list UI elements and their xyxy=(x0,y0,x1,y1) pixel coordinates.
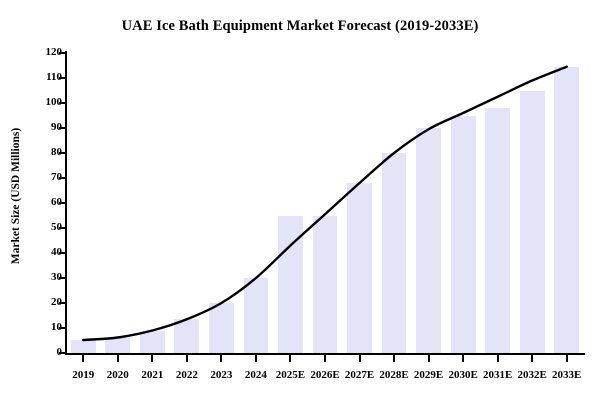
chart-title: UAE Ice Bath Equipment Market Forecast (… xyxy=(0,18,600,35)
x-axis-tick-mark xyxy=(462,355,464,362)
y-axis-title: Market Size (USD Millions) xyxy=(10,106,22,286)
x-axis-tick-mark xyxy=(566,355,568,362)
line-series xyxy=(66,53,584,353)
y-axis-tick-label: 70 xyxy=(36,171,62,183)
y-axis-tick-label: 100 xyxy=(36,96,62,108)
plot-area xyxy=(66,53,584,353)
y-axis-tick-label: 0 xyxy=(36,346,62,358)
y-axis-tick-label: 60 xyxy=(36,196,62,208)
x-axis-tick-mark xyxy=(359,355,361,362)
x-axis-tick-mark xyxy=(324,355,326,362)
chart-container: UAE Ice Bath Equipment Market Forecast (… xyxy=(0,0,600,401)
x-axis-tick-mark xyxy=(117,355,119,362)
y-axis-tick-label: 120 xyxy=(36,46,62,58)
trend-line-path xyxy=(83,67,566,340)
y-axis-tick-label: 90 xyxy=(36,121,62,133)
y-axis-tick-label: 30 xyxy=(36,271,62,283)
y-axis-tick-label: 110 xyxy=(36,71,62,83)
x-axis-tick-mark xyxy=(428,355,430,362)
y-axis-tick-label: 40 xyxy=(36,246,62,258)
x-axis-tick-mark xyxy=(82,355,84,362)
x-axis-tick-mark xyxy=(220,355,222,362)
x-axis-tick-mark xyxy=(151,355,153,362)
x-axis-tick-mark xyxy=(186,355,188,362)
x-axis-tick-mark xyxy=(393,355,395,362)
x-axis-tick-label: 2033E xyxy=(543,369,591,381)
x-axis-tick-mark xyxy=(497,355,499,362)
y-axis-tick-label: 20 xyxy=(36,296,62,308)
y-axis-tick-label: 80 xyxy=(36,146,62,158)
y-axis-tick-label: 10 xyxy=(36,321,62,333)
x-axis-tick-mark xyxy=(289,355,291,362)
x-axis-tick-mark xyxy=(531,355,533,362)
x-axis-tick-mark xyxy=(255,355,257,362)
y-axis-tick-label: 50 xyxy=(36,221,62,233)
